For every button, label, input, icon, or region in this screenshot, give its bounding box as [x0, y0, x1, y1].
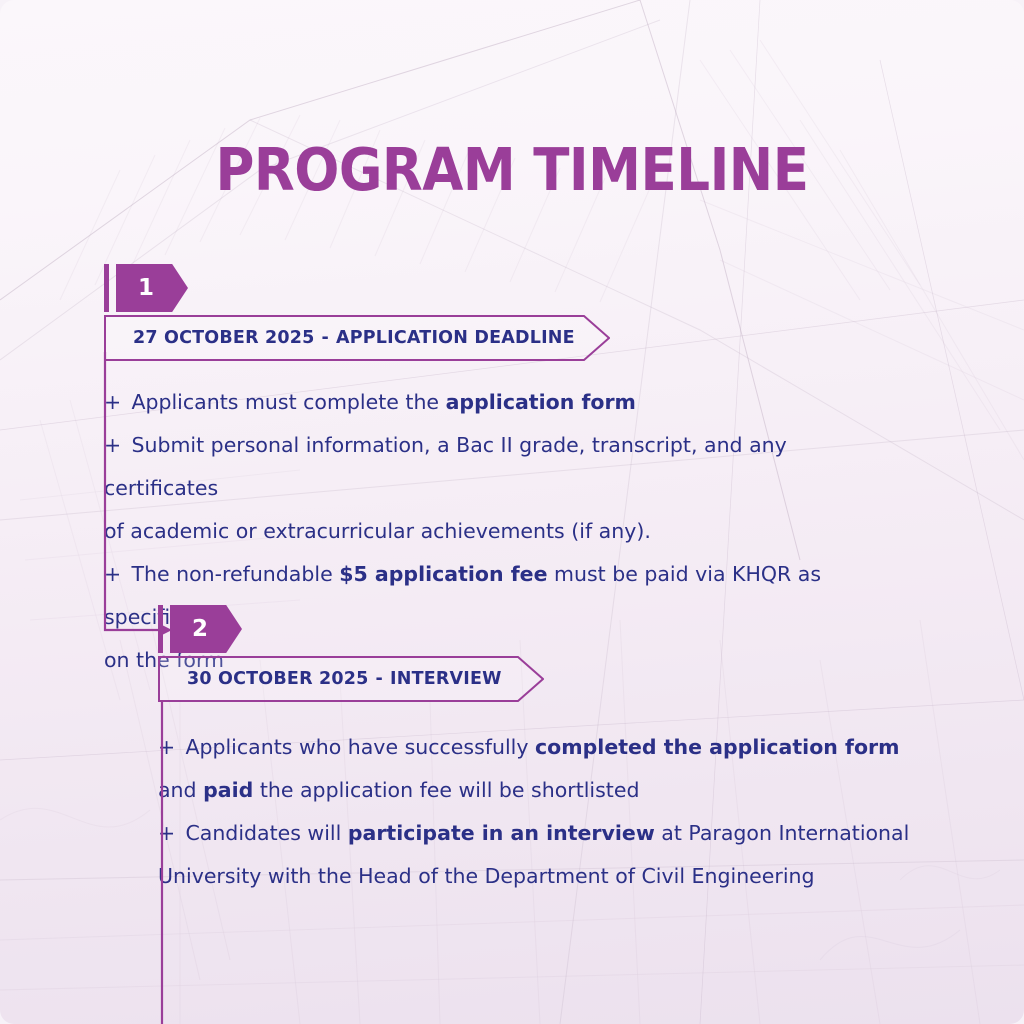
step-1-label: APPLICATION DEADLINE — [336, 328, 575, 348]
body-line: + Candidates will participate in an inte… — [158, 812, 948, 855]
step-1-header-banner: 27 OCTOBER 2025-APPLICATION DEADLINE — [104, 315, 610, 361]
bullet-plus-icon: + — [158, 821, 185, 845]
step-2-label: INTERVIEW — [390, 669, 502, 689]
bullet-plus-icon: + — [158, 735, 185, 759]
body-emphasis: application form — [446, 390, 636, 414]
body-span: The non-refundable — [131, 562, 339, 586]
step-2-header-banner: 30 OCTOBER 2025-INTERVIEW — [158, 656, 544, 702]
body-line: + Applicants must complete the applicati… — [104, 381, 904, 424]
body-emphasis: participate in an interview — [348, 821, 655, 845]
body-line: + Applicants who have successfully compl… — [158, 726, 948, 769]
timeline-step-2: 2 30 OCTOBER 2025-INTERVIEW + Applicants… — [158, 605, 948, 898]
body-line: and paid the application fee will be sho… — [158, 769, 948, 812]
step-2-number-badge: 2 — [170, 605, 242, 653]
body-span: Submit personal information, a Bac II gr… — [104, 433, 787, 500]
step-2-date: 30 OCTOBER 2025 — [187, 669, 369, 689]
body-span: at Paragon International — [655, 821, 910, 845]
step-1-date: 27 OCTOBER 2025 — [133, 328, 315, 348]
body-line: of academic or extracurricular achieveme… — [104, 510, 904, 553]
step-2-accent-bar — [158, 605, 163, 653]
bullet-plus-icon: + — [104, 562, 131, 586]
body-span: Applicants must complete the — [131, 390, 445, 414]
step-1-accent-bar — [104, 264, 109, 312]
body-span: the application fee will be shortlisted — [253, 778, 639, 802]
step-1-separator: - — [315, 328, 336, 348]
step-2-separator: - — [369, 669, 390, 689]
body-emphasis: completed the application form — [535, 735, 900, 759]
body-span: and — [158, 778, 203, 802]
body-span: Candidates will — [185, 821, 347, 845]
body-span: of academic or extracurricular achieveme… — [104, 519, 651, 543]
step-2-body-text: + Applicants who have successfully compl… — [158, 726, 948, 898]
body-span: University with the Head of the Departme… — [158, 864, 815, 888]
body-span: Applicants who have successfully — [185, 735, 535, 759]
body-emphasis: $5 application fee — [339, 562, 547, 586]
body-line: University with the Head of the Departme… — [158, 855, 948, 898]
program-timeline-poster: PROGRAM TIMELINE 1 27 OCTOBER 2025-APPLI… — [0, 0, 1024, 1024]
body-line: + Submit personal information, a Bac II … — [104, 424, 904, 510]
step-1-badge-row: 1 — [104, 264, 904, 312]
body-emphasis: paid — [203, 778, 253, 802]
step-2-badge-row: 2 — [158, 605, 948, 653]
step-1-number-badge: 1 — [116, 264, 188, 312]
page-title: PROGRAM TIMELINE — [0, 140, 1024, 199]
step-1-header-text: 27 OCTOBER 2025-APPLICATION DEADLINE — [104, 328, 575, 348]
bullet-plus-icon: + — [104, 390, 131, 414]
step-2-header-text: 30 OCTOBER 2025-INTERVIEW — [158, 669, 502, 689]
bullet-plus-icon: + — [104, 433, 131, 457]
